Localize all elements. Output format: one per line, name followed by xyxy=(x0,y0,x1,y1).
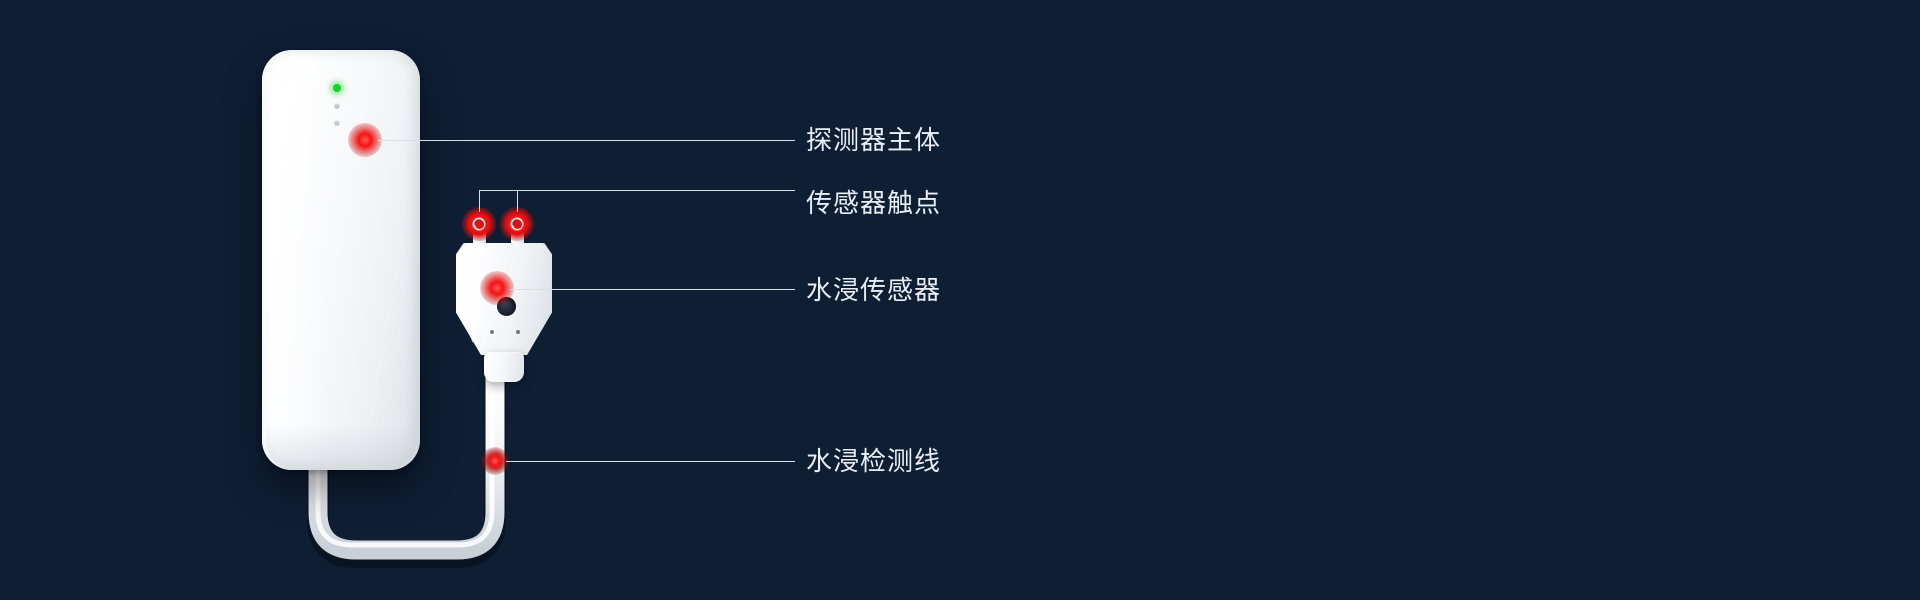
diagram-canvas: 探测器主体 传感器触点 水浸传感器 水浸检测线 xyxy=(0,0,1920,600)
callout-label-detector-body: 探测器主体 xyxy=(806,127,941,153)
callout-leader-water-sensor xyxy=(510,289,795,290)
callout-leader-detection-cable xyxy=(506,461,795,462)
callout-marker-detector-body[interactable] xyxy=(348,123,382,157)
callout-leader-stub-right xyxy=(517,190,518,212)
callout-label-detection-cable: 水浸检测线 xyxy=(806,448,941,474)
callout-marker-water-sensor[interactable] xyxy=(480,271,514,305)
cable-strain-relief xyxy=(484,352,524,382)
detector-body xyxy=(262,50,420,470)
product-callout-scene: 探测器主体 传感器触点 水浸传感器 水浸检测线 xyxy=(0,0,1920,600)
callout-label-sensor-contacts: 传感器触点 xyxy=(806,190,941,216)
plug-micro-dot-2 xyxy=(516,330,520,334)
body-bottom-shading xyxy=(266,424,416,470)
callout-marker-sensor-contact-left[interactable] xyxy=(462,207,496,241)
body-highlight xyxy=(270,56,326,462)
callout-marker-detection-cable[interactable] xyxy=(481,447,509,475)
callout-leader-detector-body xyxy=(378,140,795,141)
callout-label-water-sensor: 水浸传感器 xyxy=(806,277,941,303)
callout-leader-stub-left xyxy=(479,190,480,212)
status-led-green xyxy=(333,84,341,92)
indicator-dot-1 xyxy=(334,103,340,109)
plug-micro-dot-1 xyxy=(490,330,494,334)
callout-marker-sensor-contact-right[interactable] xyxy=(500,207,534,241)
indicator-dot-2 xyxy=(334,120,340,126)
callout-leader-sensor-contacts xyxy=(479,190,795,191)
